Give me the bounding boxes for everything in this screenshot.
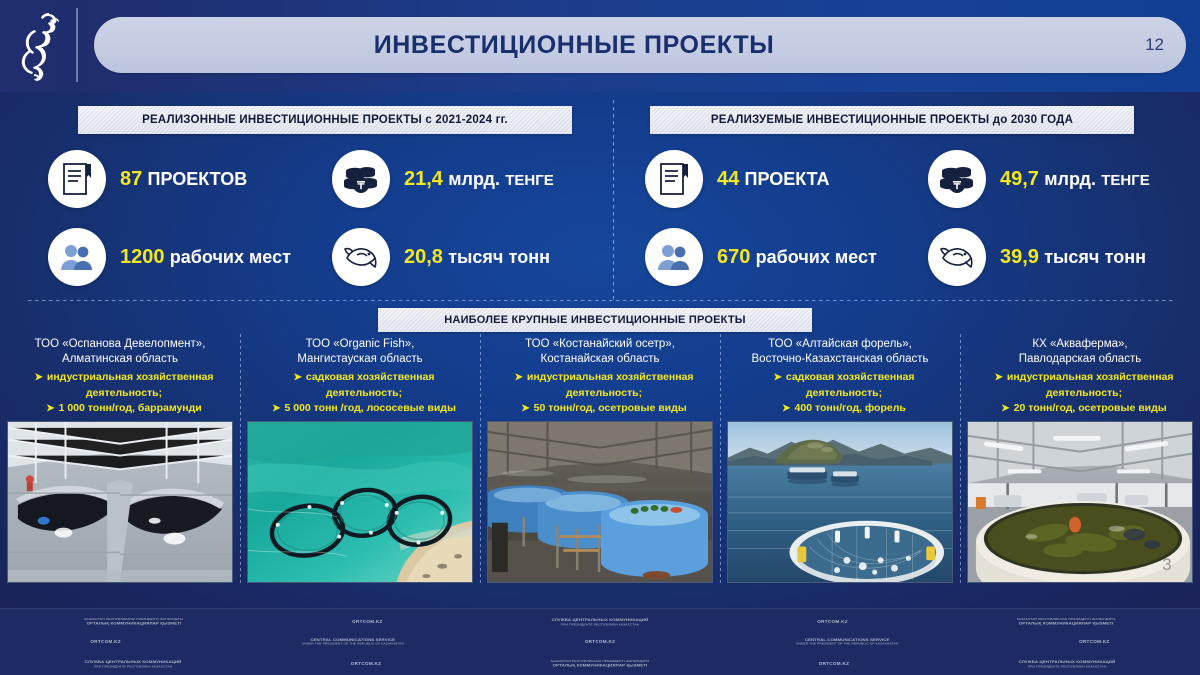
project-title: ТОО «Organic Fish», Мангистауская област… bbox=[247, 336, 473, 366]
fish-icon bbox=[332, 228, 390, 286]
list-item: ➤садковая хозяйственная деятельность; bbox=[727, 370, 953, 400]
project-bullets: ➤индустриальная хозяйственная деятельнос… bbox=[7, 370, 233, 416]
project-name: ТОО «Organic Fish», bbox=[306, 338, 415, 350]
stat-unit-secondary: тонн bbox=[509, 247, 550, 267]
project-region: Павлодарская область bbox=[1019, 353, 1141, 365]
round-tank-indoor-photo[interactable]: 3 bbox=[967, 421, 1193, 583]
blue-tanks-hangar-photo[interactable] bbox=[487, 421, 713, 583]
stat-unit: тысяч bbox=[448, 247, 503, 267]
project-card-organic-fish[interactable]: ТОО «Organic Fish», Мангистауская област… bbox=[240, 336, 480, 604]
slide-header: ИНВЕСТИЦИОННЫЕ ПРОЕКТЫ 12 bbox=[0, 0, 1200, 92]
stat-unit: тысяч bbox=[1044, 247, 1099, 267]
project-region: Алматинская область bbox=[62, 353, 178, 365]
watermark-brand: ORTCOM.KZ bbox=[585, 639, 616, 644]
project-bullets: ➤садковая хозяйственная деятельность; ➤4… bbox=[727, 370, 953, 416]
stat-planned-investment-text: 49,7 млрд. ТЕНГЕ bbox=[1000, 168, 1150, 191]
lake-cage-farm-photo[interactable] bbox=[727, 421, 953, 583]
stat-unit-secondary: ТЕНГЕ bbox=[1101, 172, 1150, 189]
stat-completed-investment-text: 21,4 млрд. ТЕНГЕ bbox=[404, 168, 554, 191]
stat-value: 20,8 bbox=[404, 246, 443, 268]
watermark-brand: ORTCOM.KZ bbox=[819, 661, 850, 666]
ribbon-completed-label: РЕАЛИЗОННЫЕ ИНВЕСТИЦИОННЫЕ ПРОЕКТЫ с 202… bbox=[142, 114, 508, 126]
project-bullets: ➤индустриальная хозяйственная деятельнос… bbox=[967, 370, 1193, 416]
ribbon-major-projects: НАИБОЛЕЕ КРУПНЫЕ ИНВЕСТИЦИОННЫЕ ПРОЕКТЫ bbox=[378, 308, 812, 332]
indoor-fish-farm-tanks-photo[interactable] bbox=[7, 421, 233, 583]
watermark-brand: ORTCOM.KZ bbox=[90, 639, 121, 644]
project-title: КХ «Акваферма», Павлодарская область bbox=[967, 336, 1193, 366]
coins-tenge-icon bbox=[928, 150, 986, 208]
project-columns: ТОО «Оспанова Девелопмент», Алматинская … bbox=[0, 336, 1200, 604]
project-card-ospanova[interactable]: ТОО «Оспанова Девелопмент», Алматинская … bbox=[0, 336, 240, 604]
stat-completed-jobs-text: 1200 рабочих мест bbox=[120, 246, 291, 269]
watermark-row: СЛУЖБА ЦЕНТРАЛЬНЫХ КОММУНИКАЦИЙ ПРИ ПРЕЗ… bbox=[0, 659, 1200, 669]
stat-planned-projects: 44 ПРОЕКТА bbox=[645, 150, 830, 208]
arrow-bullet-icon: ➤ bbox=[1001, 403, 1009, 414]
project-title: ТОО «Алтайская форель», Восточно-Казахст… bbox=[727, 336, 953, 366]
watermark-ru: СЛУЖБА ЦЕНТРАЛЬНЫХ КОММУНИКАЦИЙ ПРИ ПРЕЗ… bbox=[552, 617, 649, 626]
document-icon bbox=[48, 150, 106, 208]
arrow-bullet-icon: ➤ bbox=[293, 372, 301, 383]
watermark-en: CENTRAL COMMUNICATIONS SERVICE UNDER THE… bbox=[302, 637, 404, 646]
watermark-brand: ORTCOM.KZ bbox=[1079, 639, 1110, 644]
footer-watermark-strip: ҚАЗАҚСТАН РЕСПУБЛИКАСЫ ПРЕЗИДЕНТІ ЖАНЫНД… bbox=[0, 608, 1200, 675]
vertical-divider bbox=[613, 100, 614, 300]
stat-value: 21,4 bbox=[404, 168, 443, 190]
arrow-bullet-icon: ➤ bbox=[34, 372, 42, 383]
project-title: ТОО «Оспанова Девелопмент», Алматинская … bbox=[7, 336, 233, 366]
stat-unit-secondary: тонн bbox=[1105, 247, 1146, 267]
project-title: ТОО «Костанайский осетр», Костанайская о… bbox=[487, 336, 713, 366]
stat-planned-volume: 39,9 тысяч тонн bbox=[928, 228, 1146, 286]
stat-value: 87 bbox=[120, 168, 142, 190]
watermark-row: ORTCOM.KZ CENTRAL COMMUNICATIONS SERVICE… bbox=[0, 637, 1200, 646]
horizontal-divider bbox=[28, 300, 1176, 301]
watermark-ru: СЛУЖБА ЦЕНТРАЛЬНЫХ КОММУНИКАЦИЙ ПРИ ПРЕЗ… bbox=[85, 659, 182, 668]
watermark-en: CENTRAL COMMUNICATIONS SERVICE UNDER THE… bbox=[796, 637, 898, 646]
stat-unit: ПРОЕКТА bbox=[745, 169, 830, 189]
list-item: ➤индустриальная хозяйственная деятельнос… bbox=[487, 370, 713, 400]
ribbon-major-label: НАИБОЛЕЕ КРУПНЫЕ ИНВЕСТИЦИОННЫЕ ПРОЕКТЫ bbox=[444, 314, 745, 326]
stat-value: 1200 bbox=[120, 246, 165, 268]
people-icon bbox=[48, 228, 106, 286]
ribbon-planned-label: РЕАЛИЗУЕМЫЕ ИНВЕСТИЦИОННЫЕ ПРОЕКТЫ до 20… bbox=[711, 114, 1073, 126]
arrow-bullet-icon: ➤ bbox=[994, 372, 1002, 383]
stat-unit: рабочих мест bbox=[170, 247, 291, 267]
watermark-row: ҚАЗАҚСТАН РЕСПУБЛИКАСЫ ПРЕЗИДЕНТІ ЖАНЫНД… bbox=[0, 617, 1200, 627]
project-name: КХ «Акваферма», bbox=[1032, 338, 1127, 350]
project-name: ТОО «Алтайская форель», bbox=[768, 338, 912, 350]
project-region: Костанайская область bbox=[541, 353, 660, 365]
arrow-bullet-icon: ➤ bbox=[782, 403, 790, 414]
list-item: ➤индустриальная хозяйственная деятельнос… bbox=[967, 370, 1193, 400]
stat-planned-projects-text: 44 ПРОЕКТА bbox=[717, 168, 830, 191]
project-card-kostanay-sturgeon[interactable]: ТОО «Костанайский осетр», Костанайская о… bbox=[480, 336, 720, 604]
list-item: ➤20 тонн/год, осетровые виды bbox=[967, 401, 1193, 416]
stat-value: 39,9 bbox=[1000, 246, 1039, 268]
project-region: Мангистауская область bbox=[297, 353, 422, 365]
stat-completed-investment: 21,4 млрд. ТЕНГЕ bbox=[332, 150, 554, 208]
watermark-brand: ORTCOM.KZ bbox=[352, 619, 383, 624]
list-item: ➤садковая хозяйственная деятельность; bbox=[247, 370, 473, 400]
project-name: ТОО «Костанайский осетр», bbox=[525, 338, 675, 350]
stat-completed-projects-text: 87 ПРОЕКТОВ bbox=[120, 168, 247, 191]
arrow-bullet-icon: ➤ bbox=[514, 372, 522, 383]
slide-root: ИНВЕСТИЦИОННЫЕ ПРОЕКТЫ 12 РЕАЛИЗОННЫЕ ИН… bbox=[0, 0, 1200, 675]
document-icon bbox=[645, 150, 703, 208]
arrow-bullet-icon: ➤ bbox=[46, 403, 54, 414]
stat-planned-volume-text: 39,9 тысяч тонн bbox=[1000, 246, 1146, 269]
project-bullets: ➤садковая хозяйственная деятельность; ➤5… bbox=[247, 370, 473, 416]
arrow-bullet-icon: ➤ bbox=[521, 403, 529, 414]
stat-unit-secondary: ТЕНГЕ bbox=[505, 172, 554, 189]
arrow-bullet-icon: ➤ bbox=[773, 372, 781, 383]
title-pill: ИНВЕСТИЦИОННЫЕ ПРОЕКТЫ 12 bbox=[94, 17, 1186, 73]
stat-value: 49,7 bbox=[1000, 168, 1039, 190]
list-item: ➤50 тонн/год, осетровые виды bbox=[487, 401, 713, 416]
project-region: Восточно-Казахстанская область bbox=[752, 353, 929, 365]
project-bullets: ➤индустриальная хозяйственная деятельнос… bbox=[487, 370, 713, 416]
ribbon-planned-projects: РЕАЛИЗУЕМЫЕ ИНВЕСТИЦИОННЫЕ ПРОЕКТЫ до 20… bbox=[650, 106, 1134, 134]
stat-planned-jobs: 670 рабочих мест bbox=[645, 228, 877, 286]
stat-planned-investment: 49,7 млрд. ТЕНГЕ bbox=[928, 150, 1150, 208]
snow-leopard-emblem-icon bbox=[14, 6, 70, 84]
stat-completed-jobs: 1200 рабочих мест bbox=[48, 228, 291, 286]
page-title: ИНВЕСТИЦИОННЫЕ ПРОЕКТЫ bbox=[94, 17, 1054, 73]
list-item: ➤400 тонн/год, форель bbox=[727, 401, 953, 416]
statistics-section: 87 ПРОЕКТОВ 21,4 млрд. ТЕНГЕ bbox=[0, 140, 1200, 300]
stat-planned-jobs-text: 670 рабочих мест bbox=[717, 246, 877, 269]
stat-value: 44 bbox=[717, 168, 739, 190]
slide-number: 12 bbox=[1145, 17, 1164, 73]
watermark-brand: ORTCOM.KZ bbox=[817, 619, 848, 624]
list-item: ➤индустриальная хозяйственная деятельнос… bbox=[7, 370, 233, 400]
sea-cages-aerial-photo[interactable] bbox=[247, 421, 473, 583]
project-name: ТОО «Оспанова Девелопмент», bbox=[35, 338, 206, 350]
list-item: ➤5 000 тонн /год, лососевые виды bbox=[247, 401, 473, 416]
stat-completed-volume: 20,8 тысяч тонн bbox=[332, 228, 550, 286]
stat-unit: рабочих мест bbox=[756, 247, 877, 267]
watermark-ru: СЛУЖБА ЦЕНТРАЛЬНЫХ КОММУНИКАЦИЙ ПРИ ПРЕЗ… bbox=[1019, 659, 1116, 668]
watermark-kz: ҚАЗАҚСТАН РЕСПУБЛИКАСЫ ПРЕЗИДЕНТІ ЖАНЫНД… bbox=[84, 617, 183, 626]
people-icon bbox=[645, 228, 703, 286]
stat-completed-projects: 87 ПРОЕКТОВ bbox=[48, 150, 247, 208]
fish-icon bbox=[928, 228, 986, 286]
watermark-kz: ҚАЗАҚСТАН РЕСПУБЛИКАСЫ ПРЕЗИДЕНТІ ЖАНЫНД… bbox=[551, 659, 650, 668]
list-item: ➤1 000 тонн/год, баррамунди bbox=[7, 401, 233, 416]
watermark-kz: ҚАЗАҚСТАН РЕСПУБЛИКАСЫ ПРЕЗИДЕНТІ ЖАНЫНД… bbox=[1017, 617, 1116, 626]
watermark-brand: ORTCOM.KZ bbox=[351, 661, 382, 666]
project-card-altai-trout[interactable]: ТОО «Алтайская форель», Восточно-Казахст… bbox=[720, 336, 960, 604]
stat-value: 670 bbox=[717, 246, 750, 268]
stat-unit: млрд. bbox=[1044, 169, 1096, 189]
stat-completed-volume-text: 20,8 тысяч тонн bbox=[404, 246, 550, 269]
stat-unit: млрд. bbox=[448, 169, 500, 189]
header-divider bbox=[76, 8, 78, 82]
project-card-akvaferma[interactable]: КХ «Акваферма», Павлодарская область ➤ин… bbox=[960, 336, 1200, 604]
coins-tenge-icon bbox=[332, 150, 390, 208]
arrow-bullet-icon: ➤ bbox=[272, 403, 280, 414]
ribbon-completed-projects: РЕАЛИЗОННЫЕ ИНВЕСТИЦИОННЫЕ ПРОЕКТЫ с 202… bbox=[78, 106, 572, 134]
svg-text:3: 3 bbox=[1162, 556, 1171, 575]
stat-unit: ПРОЕКТОВ bbox=[148, 169, 248, 189]
